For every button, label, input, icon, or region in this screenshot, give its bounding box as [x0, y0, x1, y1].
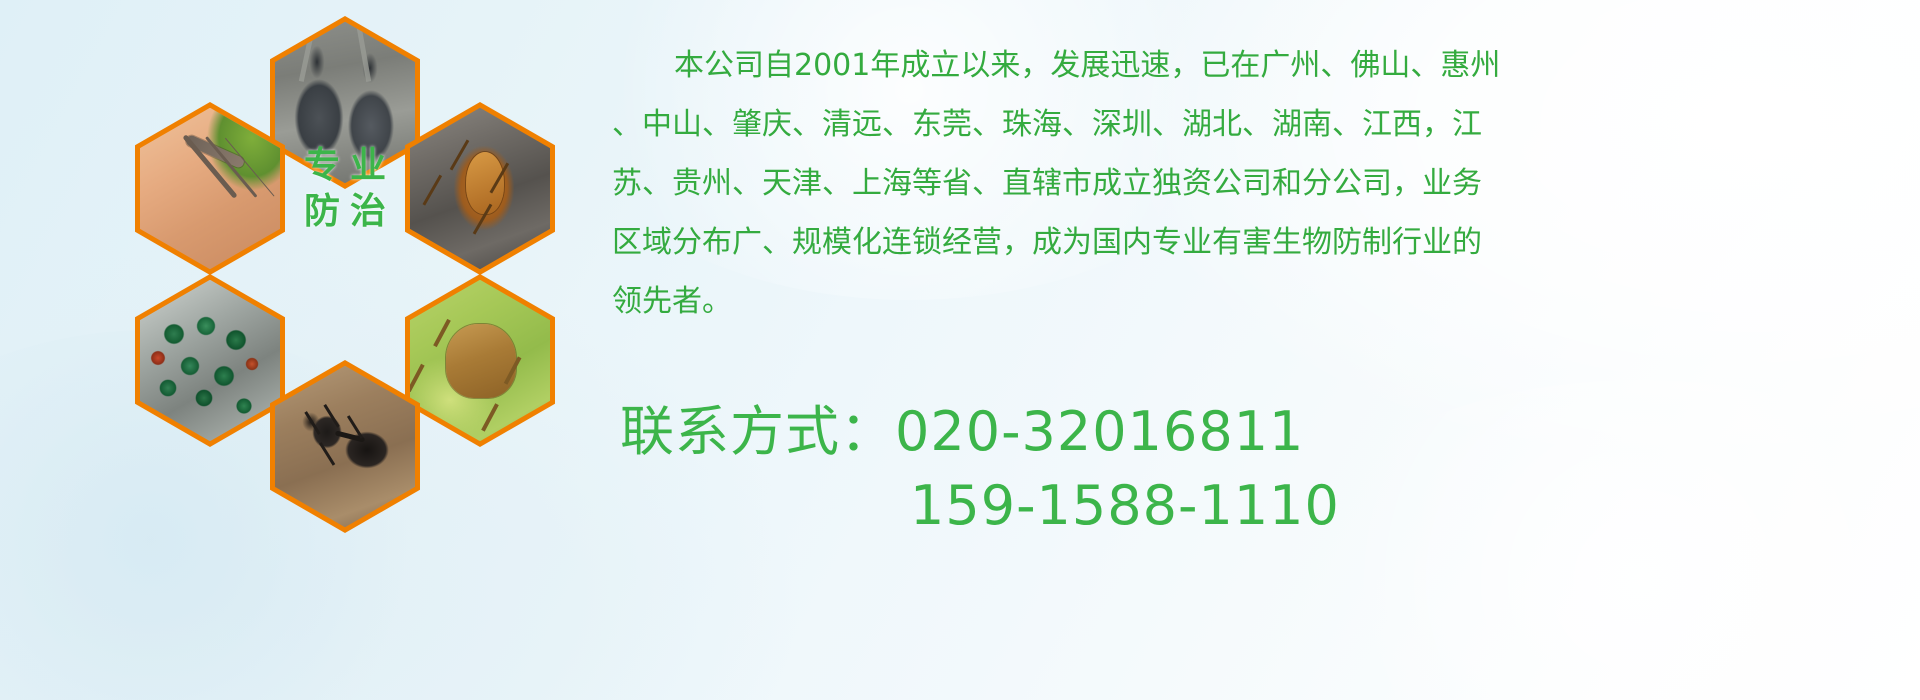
promo-banner: 专业 防治 本公司自2001年成立以来，发展迅速，已在广州、佛山、惠州 、中山、…	[0, 0, 1920, 700]
hex-inner-mosquito	[140, 108, 280, 269]
hex-cell-cockroach[interactable]	[405, 102, 555, 275]
contact-block: 联系方式：020-32016811 159-1588-1110	[620, 395, 1910, 543]
description-line-5: 领先者。	[612, 272, 1902, 331]
description-line-3: 苏、贵州、天津、上海等省、直辖市成立独资公司和分公司，业务	[612, 154, 1902, 213]
stinkbug-photo	[410, 280, 550, 441]
hex-inner-flies	[140, 280, 280, 441]
description-line-4: 区域分布广、规模化连锁经营，成为国内专业有害生物防制行业的	[612, 213, 1902, 272]
honeycomb-collage: 专业 防治	[95, 10, 595, 570]
cockroach-photo	[410, 108, 550, 269]
hex-inner-stinkbug	[410, 280, 550, 441]
description-line-2: 、中山、肇庆、清远、东莞、珠海、深圳、湖北、湖南、江西，江	[612, 95, 1902, 154]
flies-photo	[140, 280, 280, 441]
ant-photo	[275, 366, 415, 527]
hex-cell-stinkbug[interactable]	[405, 274, 555, 447]
mosquito-photo	[140, 108, 280, 269]
hex-inner-ant	[275, 366, 415, 527]
hex-cell-ant[interactable]	[270, 360, 420, 533]
hex-cell-flies[interactable]	[135, 274, 285, 447]
contact-phone-primary[interactable]: 联系方式：020-32016811	[620, 395, 1910, 469]
hex-cell-mosquito[interactable]	[135, 102, 285, 275]
center-label-line1: 专业	[294, 147, 396, 185]
center-label-line2: 防治	[294, 193, 396, 231]
contact-phone-secondary[interactable]: 159-1588-1110	[620, 469, 1910, 543]
description-line-1: 本公司自2001年成立以来，发展迅速，已在广州、佛山、惠州	[612, 36, 1902, 95]
hex-inner-cockroach	[410, 108, 550, 269]
company-description: 本公司自2001年成立以来，发展迅速，已在广州、佛山、惠州 、中山、肇庆、清远、…	[612, 36, 1902, 331]
